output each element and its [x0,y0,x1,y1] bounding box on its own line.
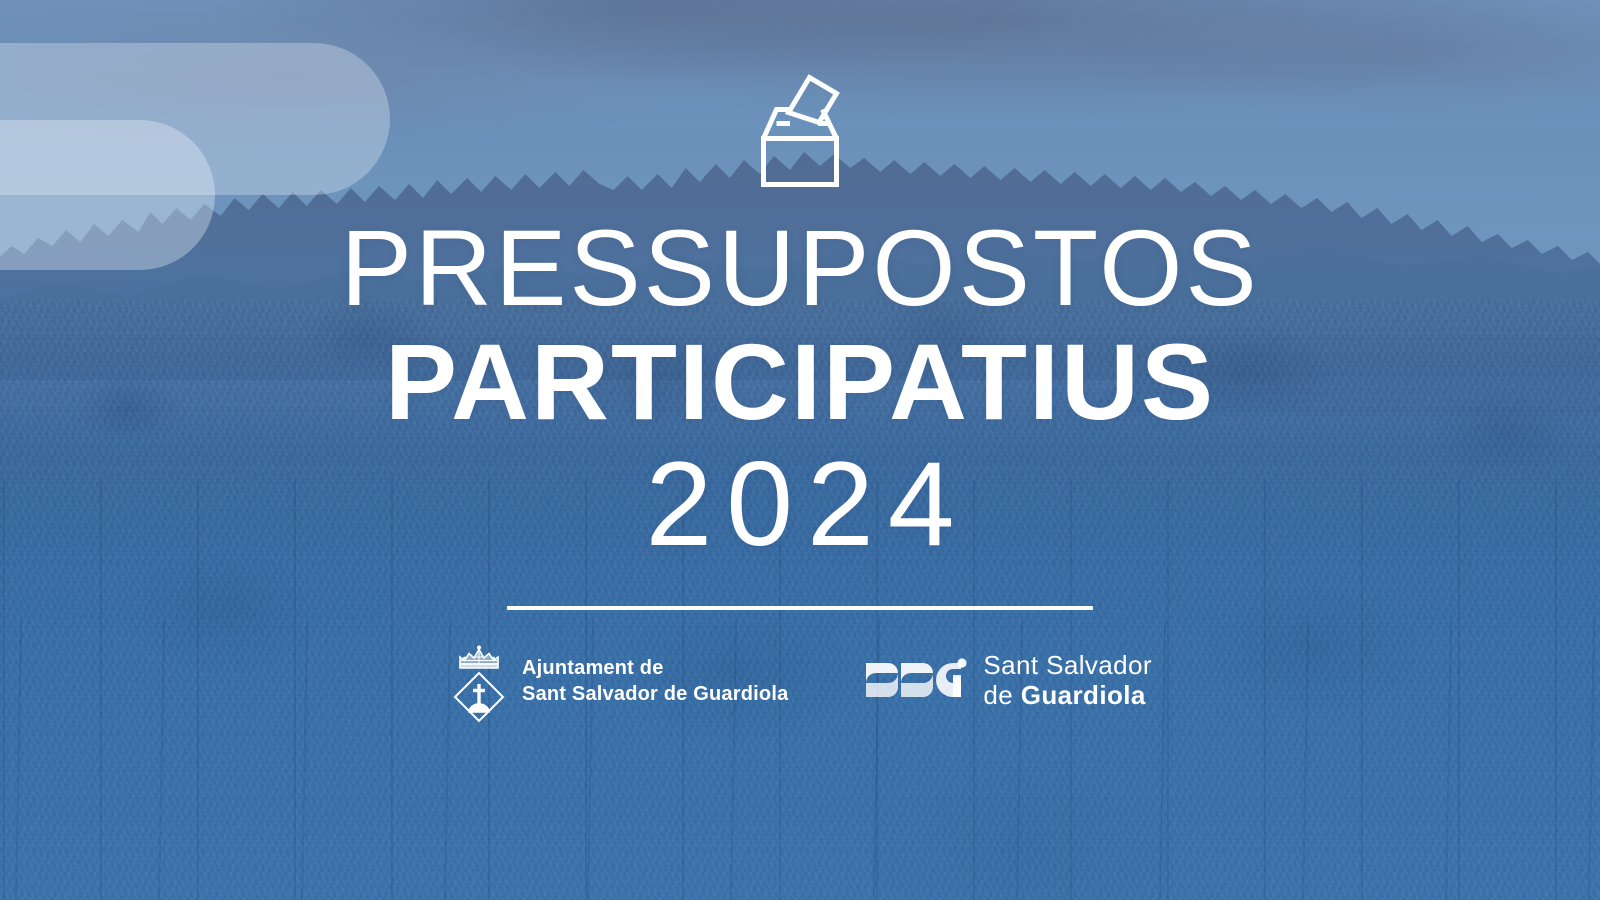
ssg-de: de [983,680,1020,710]
ssg-line2: de Guardiola [983,680,1152,710]
ssg-name: Sant Salvador de Guardiola [983,650,1152,710]
ajuntament-logo: Ajuntament de Sant Salvador de Guardiola [448,640,788,724]
ssg-monogram-icon [866,657,970,703]
poster-titles: PRESSUPOSTOS PARTICIPATIUS 2024 [336,214,1264,564]
title-line-participatius: PARTICIPATIUS [336,328,1264,436]
ajuntament-line1: Ajuntament de [522,656,788,682]
ssg-logo: Sant Salvador de Guardiola [866,650,1152,710]
logos-row: Ajuntament de Sant Salvador de Guardiola [448,640,1152,724]
poster-canvas: PRESSUPOSTOS PARTICIPATIUS 2024 [0,0,1600,900]
ssg-guardiola: Guardiola [1021,680,1146,710]
title-line-year: 2024 [336,444,1264,564]
title-line-pressupostos: PRESSUPOSTOS [341,214,1260,322]
poster-content: PRESSUPOSTOS PARTICIPATIUS 2024 [0,0,1600,900]
title-divider [507,606,1093,610]
ssg-line1: Sant Salvador [983,650,1152,680]
ballot-box-icon [746,64,854,192]
ajuntament-name: Ajuntament de Sant Salvador de Guardiola [522,656,788,707]
ajuntament-line2: Sant Salvador de Guardiola [522,682,788,708]
ajuntament-crest-icon [448,640,510,724]
